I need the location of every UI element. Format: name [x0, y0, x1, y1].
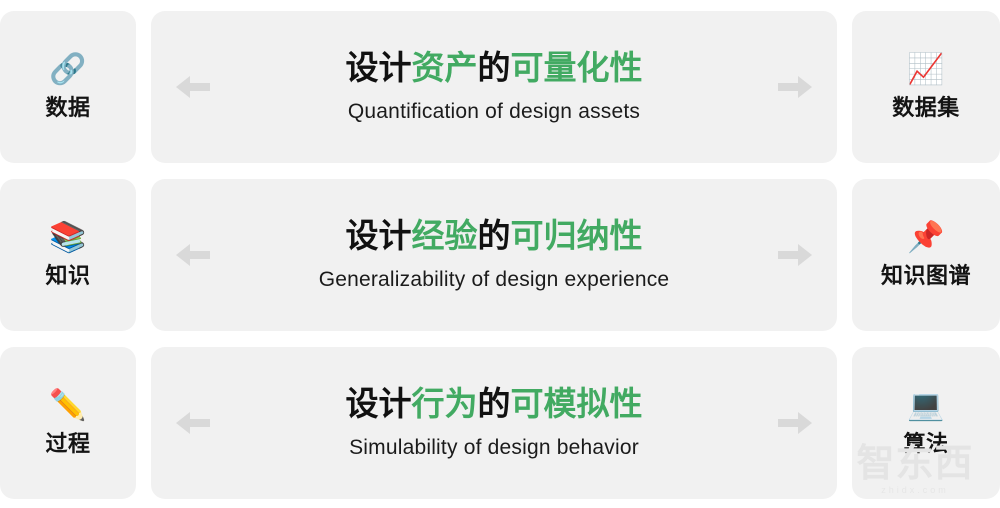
center-statement-card[interactable]: 设计经验的可归纳性 Generalizability of design exp… [151, 179, 837, 331]
statement-title-cn: 设计行为的可模拟性 [346, 385, 643, 423]
statement-text: 设计行为的可模拟性 Simulability of design behavio… [215, 385, 773, 461]
title-segment-highlight: 可模拟性 [511, 385, 643, 422]
statement-title-cn: 设计经验的可归纳性 [346, 217, 643, 255]
title-segment-highlight: 资产 [412, 49, 478, 86]
chart-increasing-icon: 📈 [907, 52, 944, 88]
title-segment: 的 [478, 385, 511, 422]
title-segment: 设计 [346, 49, 412, 86]
right-card-label: 知识图谱 [881, 262, 971, 290]
title-segment: 设计 [346, 385, 412, 422]
statement-subtitle-en: Generalizability of design experience [319, 267, 670, 293]
link-icon: 🔗 [49, 52, 86, 88]
right-card-label: 数据集 [892, 94, 960, 122]
arrow-right-icon[interactable] [773, 238, 815, 272]
center-statement-card[interactable]: 设计资产的可量化性 Quantification of design asset… [151, 11, 837, 163]
left-card-label: 数据 [45, 94, 90, 122]
arrow-left-icon[interactable] [173, 238, 215, 272]
right-card-label: 算法 [903, 430, 948, 458]
arrow-left-icon[interactable] [173, 406, 215, 440]
statement-text: 设计经验的可归纳性 Generalizability of design exp… [215, 217, 773, 293]
statement-subtitle-en: Simulability of design behavior [349, 435, 639, 461]
title-segment-highlight: 可归纳性 [511, 217, 643, 254]
arrow-right-icon[interactable] [773, 406, 815, 440]
laptop-icon: 💻 [907, 388, 944, 424]
left-card-label: 知识 [45, 262, 90, 290]
right-concept-card[interactable]: 💻 算法 [852, 347, 1000, 499]
board-row: ✏️ 过程 设计行为的可模拟性 Simulability of design b… [0, 347, 1000, 499]
statement-title-cn: 设计资产的可量化性 [346, 49, 643, 87]
title-segment: 的 [478, 217, 511, 254]
left-concept-card[interactable]: 🔗 数据 [0, 11, 136, 163]
title-segment-highlight: 经验 [412, 217, 478, 254]
right-concept-card[interactable]: 📈 数据集 [852, 11, 1000, 163]
arrow-right-icon[interactable] [773, 70, 815, 104]
title-segment-highlight: 行为 [412, 385, 478, 422]
title-segment: 的 [478, 49, 511, 86]
statement-text: 设计资产的可量化性 Quantification of design asset… [215, 49, 773, 125]
left-card-label: 过程 [45, 430, 90, 458]
arrow-left-icon[interactable] [173, 70, 215, 104]
board-row: 📚 知识 设计经验的可归纳性 Generalizability of desig… [0, 179, 1000, 331]
pushpin-icon: 📌 [907, 220, 944, 256]
board-row: 🔗 数据 设计资产的可量化性 Quantification of design … [0, 11, 1000, 163]
comparison-board: 🔗 数据 设计资产的可量化性 Quantification of design … [0, 0, 1000, 508]
title-segment-highlight: 可量化性 [511, 49, 643, 86]
center-statement-card[interactable]: 设计行为的可模拟性 Simulability of design behavio… [151, 347, 837, 499]
pencil-icon: ✏️ [49, 388, 86, 424]
right-concept-card[interactable]: 📌 知识图谱 [852, 179, 1000, 331]
left-concept-card[interactable]: ✏️ 过程 [0, 347, 136, 499]
books-icon: 📚 [49, 220, 86, 256]
left-concept-card[interactable]: 📚 知识 [0, 179, 136, 331]
statement-subtitle-en: Quantification of design assets [348, 99, 640, 125]
title-segment: 设计 [346, 217, 412, 254]
